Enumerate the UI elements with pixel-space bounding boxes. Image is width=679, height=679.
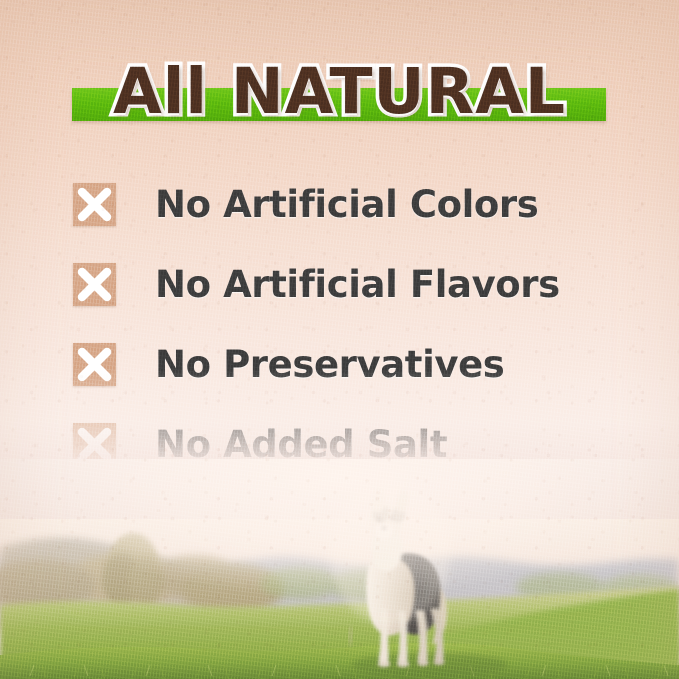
claim-label: No Artificial Flavors (155, 263, 560, 306)
product-infographic-poster: All NATURAL No Artificial Colors (0, 0, 679, 679)
claims-list: No Artificial Colors No Artificial Flavo… (73, 176, 633, 496)
header-banner: All NATURAL (0, 46, 679, 138)
claim-label: No Artificial Colors (155, 183, 538, 226)
claim-label: No Preservatives (155, 343, 504, 386)
x-mark-icon (73, 183, 116, 226)
page-title: All NATURAL (0, 46, 679, 138)
x-mark-icon (73, 343, 116, 386)
list-item: No Artificial Colors (73, 176, 633, 232)
x-mark-icon (73, 263, 116, 306)
list-item: No Artificial Flavors (73, 256, 633, 312)
dog-landscape-photo (0, 459, 679, 679)
list-item: No Preservatives (73, 336, 633, 392)
